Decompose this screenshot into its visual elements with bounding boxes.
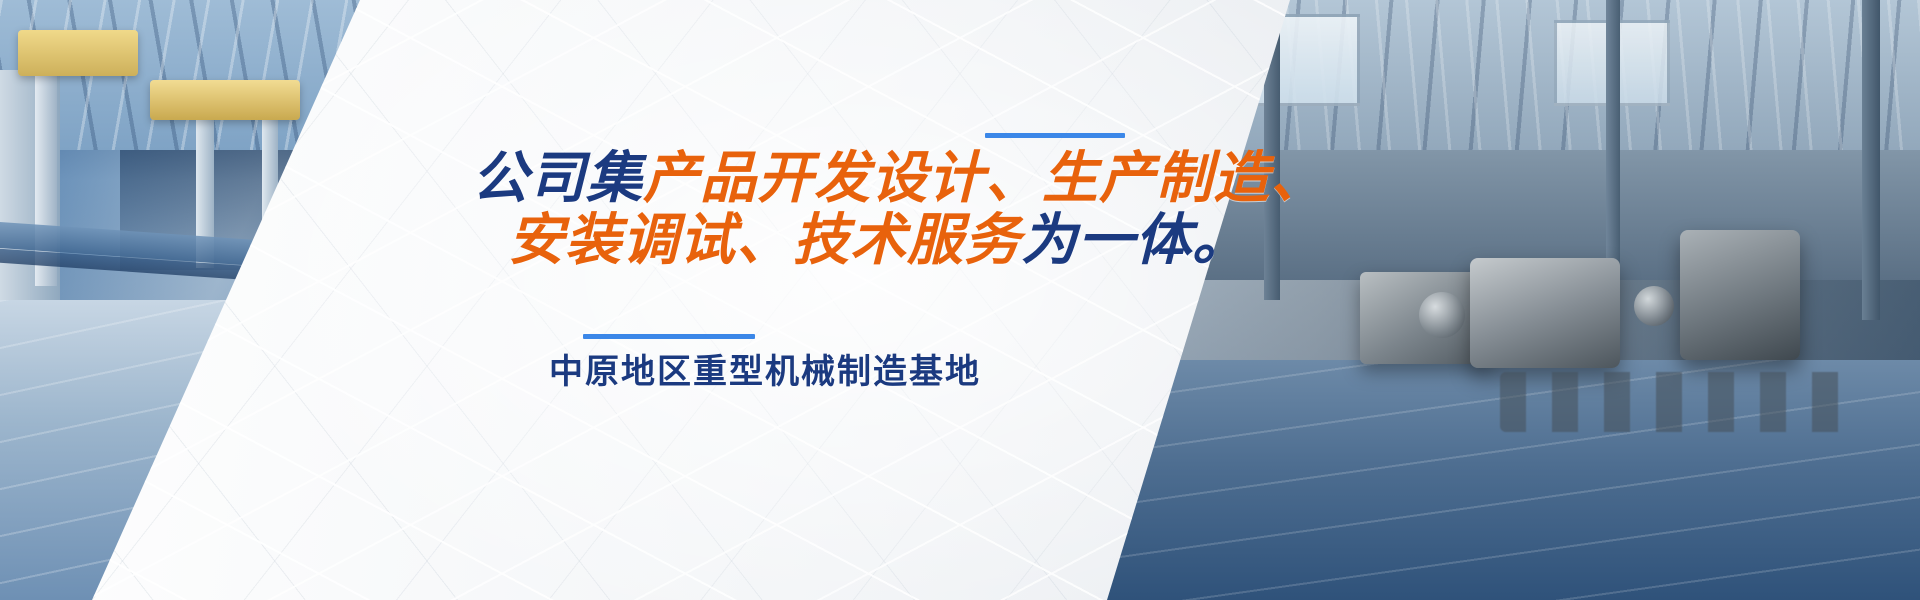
photo-right-gearbox-3 — [1680, 230, 1800, 360]
photo-left-yellow-machine-1 — [18, 30, 138, 76]
photo-right-parts-row — [1500, 372, 1860, 432]
photo-left-yellow-machine-2 — [150, 80, 300, 120]
hero-banner: 公司集产品开发设计、生产制造、 安装调试、技术服务为一体。 中原地区重型机械制造… — [0, 0, 1920, 600]
photo-right-beam-3 — [1862, 0, 1880, 320]
photo-right-beam-2 — [1606, 0, 1620, 290]
photo-right-gearbox-2 — [1470, 258, 1620, 368]
photo-right-cylinder-2 — [1634, 286, 1674, 326]
photo-right-cylinder-1 — [1419, 292, 1465, 338]
